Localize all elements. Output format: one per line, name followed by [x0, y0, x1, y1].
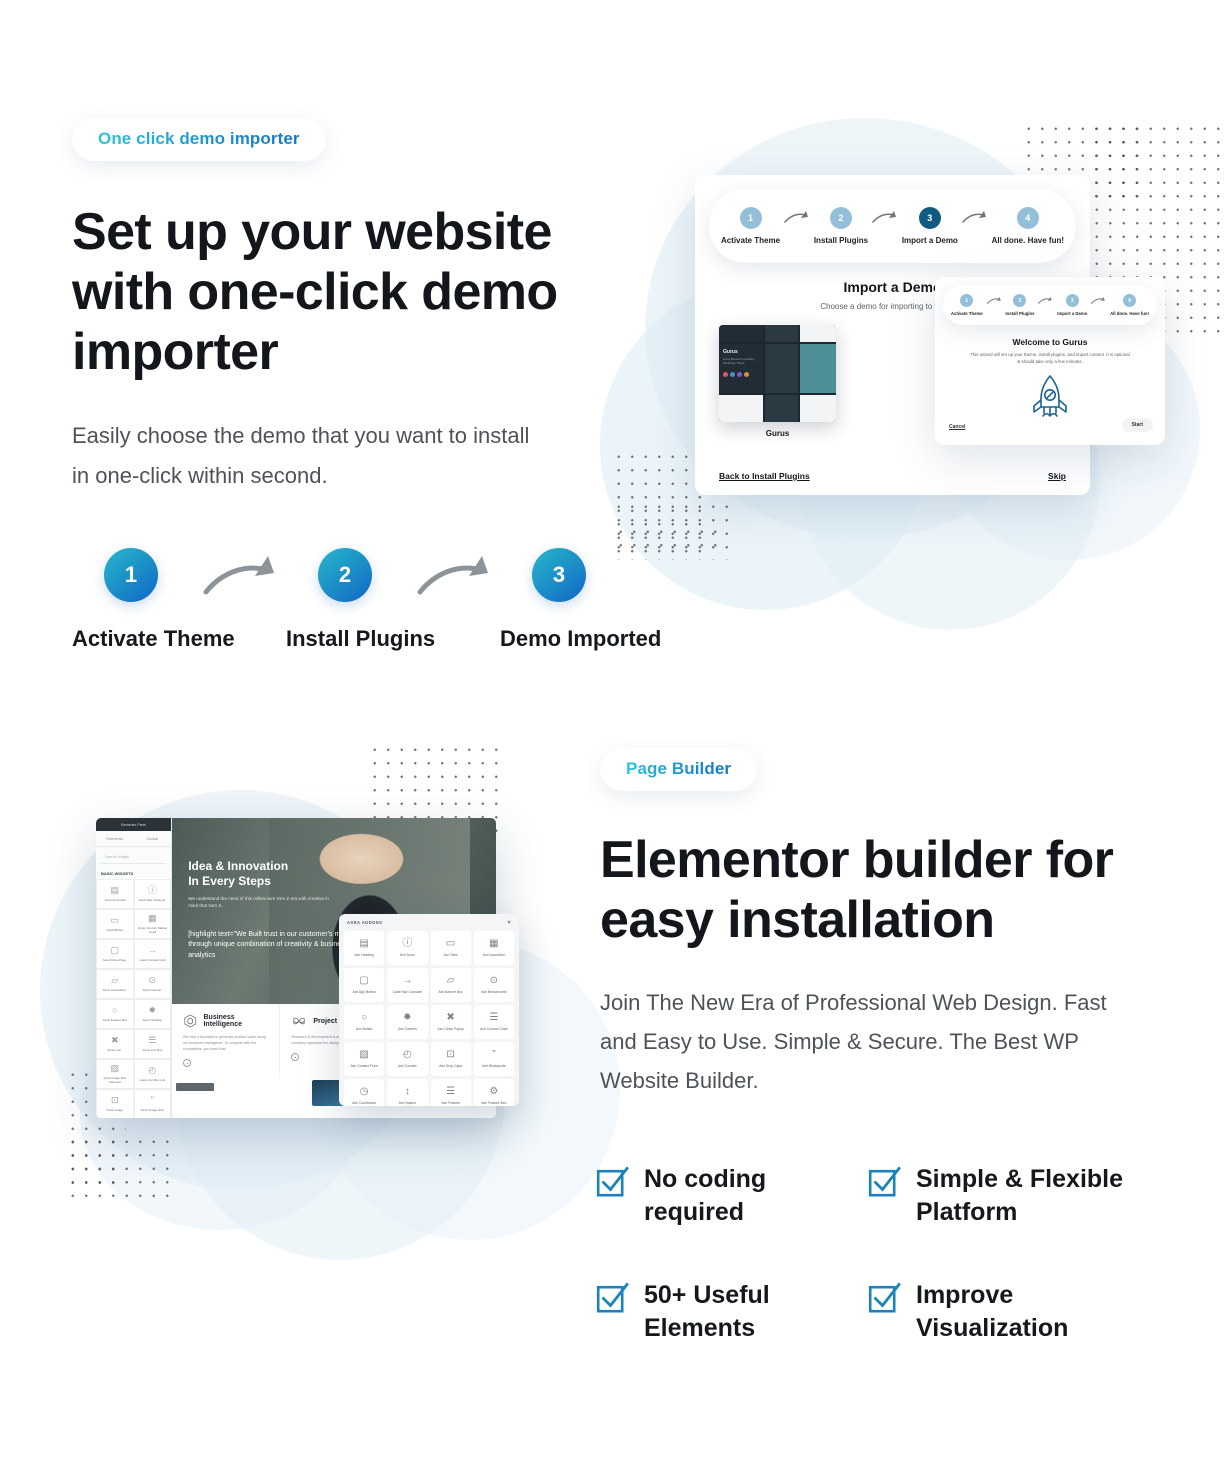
welcome-step-2-dot: 2 — [1013, 294, 1026, 307]
step-3-circle: 3 — [532, 548, 586, 602]
widget-glyph-icon: ⊙ — [148, 976, 156, 985]
widget-glyph-icon: ▢ — [110, 946, 119, 955]
step-2: 2 Install Plugins — [286, 548, 414, 602]
addons-panel-header: ASRA ADDONS ▾ — [339, 914, 519, 931]
addon-name: Asri Blockquote — [482, 1064, 506, 1068]
widget-cell[interactable]: ▧Asrar Image Box Carousel — [96, 1059, 134, 1089]
welcome-step-1-label: Activate Theme — [951, 311, 983, 316]
feature-item-no-coding: No coding required — [596, 1163, 868, 1229]
demo-tile-brand: Gurus Gurus Business Consulting WordPres… — [719, 344, 763, 394]
addon-glyph-icon: ✖ — [446, 1013, 454, 1023]
welcome-step-2-label: Install Plugins — [1005, 311, 1034, 316]
wizard-arrow-icon-1 — [784, 211, 810, 225]
info-card-1-body: We help a business to generate product v… — [183, 1034, 268, 1052]
wizard-step-1[interactable]: 1 Activate Theme — [721, 207, 780, 245]
addon-cell[interactable]: ↕Asri Spacer — [387, 1079, 427, 1106]
demo-name-label: Gurus — [719, 429, 836, 438]
wizard-step-bar: 1 Activate Theme 2 Install Plugins 3 Imp… — [709, 189, 1076, 263]
wizard-step-4-label: All done. Have fun! — [992, 236, 1064, 245]
step-2-circle: 2 — [318, 548, 372, 602]
feature-item-flexible-label: Simple & Flexible Platform — [916, 1163, 1140, 1229]
demo-tagline: Gurus Business Consulting WordPress Them… — [723, 358, 759, 366]
addon-cell[interactable]: ◴Asri Counter — [387, 1042, 427, 1076]
widget-name: Asrar Countdown — [103, 988, 126, 992]
hexagon-icon — [183, 1013, 197, 1029]
checkbox-checked-icon — [868, 1165, 902, 1199]
widget-glyph-icon: ✹ — [148, 1006, 156, 1015]
marketing-page: One click demo importer Set up your webs… — [0, 0, 1232, 1461]
widget-name: Asrar Image Grid — [141, 1108, 164, 1112]
addon-cell[interactable]: ⊙Asri Breadcrumb — [474, 968, 514, 1002]
dot-grid-step3 — [614, 525, 724, 553]
welcome-step-4-dot: 4 — [1123, 294, 1136, 307]
wizard-step-2-label: Install Plugins — [814, 236, 868, 245]
widget-glyph-icon: ✖ — [111, 1036, 119, 1045]
widget-cell[interactable]: ▱Asrar Countdown — [96, 969, 134, 999]
hero-title-line1: Idea & Innovation — [188, 859, 338, 874]
widget-glyph-icon: → — [148, 946, 157, 955]
demo-tile — [800, 395, 836, 422]
step-1-circle: 1 — [104, 548, 158, 602]
widget-cell[interactable]: ☰Asrar Icon Box — [134, 1029, 172, 1059]
step-3: 3 Demo Imported — [500, 548, 628, 602]
addon-name: Asri Accordion — [483, 953, 505, 957]
widget-glyph-icon: ☰ — [148, 1036, 156, 1045]
demo-tile — [765, 344, 798, 394]
skip-link[interactable]: Skip — [1048, 471, 1066, 481]
widget-cell[interactable]: ⓘAsrar Nav Carousel — [134, 879, 172, 909]
widget-cell[interactable]: ✹Asrar Heading — [134, 999, 172, 1029]
hero-paragraph: We understand the need of this millenniu… — [188, 895, 338, 910]
widget-name: Asrar Country Station Feed — [135, 926, 169, 934]
feature-item-visualization: Improve Visualization — [868, 1279, 1140, 1345]
steps-row: 1 Activate Theme 2 Install Plugins 3 Dem… — [72, 548, 628, 606]
checkbox-checked-icon — [868, 1281, 902, 1315]
widget-cell[interactable]: ⊡Asrar Image — [96, 1089, 134, 1118]
addon-glyph-icon: ⓘ — [402, 939, 412, 949]
chevron-down-icon[interactable]: ▾ — [508, 919, 511, 926]
addon-name: Asri App Button — [352, 990, 375, 994]
addon-glyph-icon: ⊙ — [490, 976, 498, 986]
widget-glyph-icon: ▧ — [110, 1064, 119, 1073]
addon-cell[interactable]: ▱Asri Banner Box — [431, 968, 471, 1002]
badge-page-builder-label: Page Builder — [626, 759, 731, 778]
builder-panel-tabs: Elements Global — [96, 831, 171, 847]
feature-list: No coding required Simple & Flexible Pla… — [596, 1163, 1140, 1345]
widget-cell[interactable]: ▢Asrar Close Page — [96, 939, 134, 969]
addon-glyph-icon: ○ — [361, 1013, 367, 1023]
addons-panel-title: ASRA ADDONS — [347, 920, 382, 925]
welcome-arrow-icon-1 — [987, 297, 1002, 305]
wizard-arrow-icon-2 — [872, 211, 898, 225]
welcome-step-3[interactable]: 3 Import a Demo — [1057, 294, 1087, 316]
addon-name: Asri Counter — [398, 1064, 417, 1068]
hero-title-line2: In Every Steps — [188, 874, 338, 889]
widget-cell[interactable]: ”Asrar Image Grid — [134, 1089, 172, 1118]
demo-tile — [719, 395, 763, 422]
demo-tile — [719, 325, 763, 342]
demo-tile — [800, 325, 836, 342]
section2-title: Elementor builder for easy installation — [600, 831, 1160, 951]
builder-panel-title: Elementor Panel — [121, 823, 146, 827]
widget-cell[interactable]: ▭Asrar Button — [96, 909, 134, 939]
widget-cell[interactable]: ✖Asrar Icon — [96, 1029, 134, 1059]
widget-name: Asrar Image Box Carousel — [98, 1076, 132, 1084]
addon-name: Asri Feature Box — [481, 1101, 506, 1105]
arrow-icon-1 — [200, 552, 286, 606]
welcome-step-bar: 1 Activate Theme 2 Install Plugins 3 Imp… — [943, 285, 1157, 325]
demo-tile — [800, 344, 836, 394]
feature-item-flexible: Simple & Flexible Platform — [868, 1163, 1140, 1229]
rocket-icon — [1029, 373, 1071, 421]
wizard-step-1-label: Activate Theme — [721, 236, 780, 245]
addon-glyph-icon: → — [402, 976, 412, 986]
welcome-step-3-label: Import a Demo — [1057, 311, 1087, 316]
step-1: 1 Activate Theme — [72, 548, 200, 602]
hero-text-block: Idea & Innovation In Every Steps We unde… — [188, 859, 338, 910]
feature-item-elements-label: 50+ Useful Elements — [644, 1279, 868, 1345]
widget-glyph-icon: ▱ — [111, 976, 118, 985]
widget-name: Asrar Nav Carousel — [139, 898, 165, 902]
addon-glyph-icon: ▭ — [446, 939, 455, 949]
addon-cell[interactable]: ”Asri Blockquote — [474, 1042, 514, 1076]
demo-swatches — [723, 372, 759, 377]
addon-name: Asri Close Popup — [438, 1027, 464, 1031]
widget-cell[interactable]: ⊙Asrar Counter — [134, 969, 172, 999]
info-card-1-title: Business Intelligence — [203, 1014, 268, 1028]
addon-glyph-icon: ⚙ — [489, 1087, 498, 1097]
tab-global[interactable]: Global — [134, 831, 172, 846]
widget-section-title: BASIC WIDGETS — [96, 868, 171, 879]
widget-name: Asrar Feature Box — [102, 1018, 127, 1022]
addon-cell[interactable]: ✖Asri Close Popup — [431, 1005, 471, 1039]
addon-name: Asri Countdown — [352, 1101, 376, 1105]
wizard-step-3-label: Import a Demo — [902, 236, 958, 245]
wizard-step-1-dot: 1 — [740, 207, 762, 229]
addon-glyph-icon: ▱ — [447, 976, 455, 986]
addon-name: Asri Banner Box — [438, 990, 463, 994]
wizard-step-2[interactable]: 2 Install Plugins — [814, 207, 868, 245]
badge-label: One click demo importer — [98, 129, 300, 148]
welcome-step-1[interactable]: 1 Activate Theme — [951, 294, 983, 316]
arrow-icon-2 — [414, 552, 500, 606]
addon-glyph-icon: ▦ — [489, 939, 498, 949]
wizard-step-2-dot: 2 — [830, 207, 852, 229]
flower-icon — [291, 1013, 307, 1029]
addon-cell[interactable]: ⚙Asri Feature Box — [474, 1079, 514, 1106]
addon-name: Asri Column Chart — [480, 1027, 508, 1031]
widget-name: Asrar Button — [106, 928, 123, 932]
addon-name: Asri Drop Caps — [439, 1064, 462, 1068]
addon-glyph-icon: ” — [492, 1050, 495, 1060]
step-3-label: Demo Imported — [500, 626, 661, 652]
tab-elements[interactable]: Elements — [96, 831, 134, 846]
addons-grid: ▤Asri HeadingⓘAsri Icons▭Asri Tabs▦Asri … — [339, 931, 519, 1106]
welcome-body: This wizard will set up your theme, inst… — [969, 351, 1131, 366]
info-card-1-head: Business Intelligence — [183, 1013, 268, 1029]
addon-name: Asri Heading — [354, 953, 373, 957]
widget-name: Asrar Counter — [143, 988, 162, 992]
addon-name: Asri Breadcrumb — [481, 990, 506, 994]
info-card-2-readmore[interactable] — [291, 1053, 299, 1061]
widget-glyph-icon: ” — [151, 1096, 154, 1105]
addons-panel: ASRA ADDONS ▾ ▤Asri HeadingⓘAsri Icons▭A… — [339, 914, 519, 1106]
widget-glyph-icon: ▤ — [110, 886, 119, 895]
widget-cell[interactable]: ○Asrar Feature Box — [96, 999, 134, 1029]
badge-page-builder: Page Builder — [600, 748, 757, 791]
builder-bottom-tag — [176, 1083, 214, 1091]
addon-glyph-icon: ◷ — [360, 1087, 369, 1097]
widget-name: Asrar Heading — [143, 1018, 162, 1022]
feature-item-visualization-label: Improve Visualization — [916, 1279, 1140, 1345]
checkbox-checked-icon — [596, 1165, 630, 1199]
demo-tile — [765, 325, 798, 342]
info-card-1: Business Intelligence We help a business… — [172, 1004, 280, 1078]
addon-cell[interactable]: ✹Asri Careers — [387, 1005, 427, 1039]
widget-cell[interactable]: ▦Asrar Country Station Feed — [134, 909, 172, 939]
wizard-step-4-dot: 4 — [1017, 207, 1039, 229]
section2-description: Join The New Era of Professional Web Des… — [600, 983, 1140, 1100]
addon-glyph-icon: ☰ — [446, 1087, 455, 1097]
widget-name: Asrar Contact Card — [139, 958, 165, 962]
widget-cell[interactable]: ◴Asrar Icon Box List — [134, 1059, 172, 1089]
widget-glyph-icon: ⓘ — [148, 886, 157, 895]
addon-glyph-icon: ▧ — [359, 1050, 368, 1060]
welcome-cancel-button[interactable]: Cancel — [949, 424, 965, 430]
wizard-arrow-icon-3 — [962, 211, 988, 225]
widget-name: Asrar Image — [106, 1108, 123, 1112]
page-title: Set up your website with one-click demo … — [72, 203, 652, 382]
addon-glyph-icon: ↕ — [405, 1087, 410, 1097]
addon-name: Asri Careers — [398, 1027, 417, 1031]
addon-glyph-icon: ⊡ — [446, 1050, 454, 1060]
widget-cell[interactable]: →Asrar Contact Card — [134, 939, 172, 969]
feature-item-no-coding-label: No coding required — [644, 1163, 868, 1229]
wizard-step-3[interactable]: 3 Import a Demo — [902, 207, 958, 245]
addon-name: Asri Contact Form — [350, 1064, 377, 1068]
feature-item-elements: 50+ Useful Elements — [596, 1279, 868, 1345]
addon-glyph-icon: ▤ — [359, 939, 368, 949]
widget-name: Asrar Accordion — [104, 898, 125, 902]
dot-grid-mid-left-2 — [612, 500, 734, 560]
elementor-builder-mockup: Elementor Panel Elements Global Search W… — [96, 818, 546, 1158]
widget-glyph-icon: ⊡ — [111, 1096, 119, 1105]
addon-name: Asri Icons — [400, 953, 415, 957]
wizard-step-3-dot: 3 — [919, 207, 941, 229]
addon-cell[interactable]: ☰Asri Feature — [431, 1079, 471, 1106]
step-2-label: Install Plugins — [286, 626, 435, 652]
demo-tile — [765, 395, 798, 422]
widget-glyph-icon: ◴ — [148, 1066, 156, 1075]
addon-cell[interactable]: ◷Asri Countdown — [344, 1079, 384, 1106]
addon-glyph-icon: ▢ — [359, 976, 368, 986]
welcome-step-4[interactable]: 4 All done. Have fun! — [1110, 294, 1149, 316]
welcome-step-3-dot: 3 — [1066, 294, 1079, 307]
welcome-title: Welcome to Gurus — [935, 337, 1165, 347]
builder-panel-titlebar: Elementor Panel — [96, 818, 171, 831]
welcome-arrow-icon-2 — [1038, 297, 1053, 305]
widget-name: Asrar Icon Box List — [140, 1078, 165, 1082]
welcome-arrow-icon-3 — [1091, 297, 1106, 305]
widget-glyph-icon: ○ — [112, 1006, 117, 1015]
addon-cell[interactable]: ▤Asri Heading — [344, 931, 384, 965]
widget-cell[interactable]: ▤Asrar Accordion — [96, 879, 134, 909]
widget-grid: ▤Asrar AccordionⓘAsrar Nav Carousel▭Asra… — [96, 879, 171, 1118]
checkbox-checked-icon — [596, 1281, 630, 1315]
page-description: Easily choose the demo that you want to … — [72, 416, 542, 494]
welcome-step-2[interactable]: 2 Install Plugins — [1005, 294, 1034, 316]
welcome-step-4-label: All done. Have fun! — [1110, 311, 1149, 316]
addon-name: Asri Feature — [441, 1101, 459, 1105]
addon-glyph-icon: ☰ — [489, 1013, 498, 1023]
addon-cell[interactable]: ▭Asri Tabs — [431, 931, 471, 965]
addon-name: Asri Spacer — [399, 1101, 417, 1105]
addon-glyph-icon: ◴ — [403, 1050, 412, 1060]
welcome-start-button[interactable]: Start — [1122, 418, 1153, 432]
welcome-wizard-window: 1 Activate Theme 2 Install Plugins 3 Imp… — [935, 277, 1165, 445]
back-to-install-plugins-link[interactable]: Back to Install Plugins — [719, 471, 810, 481]
hero-paragraph-2: [highlight text="We Built trust in our c… — [188, 930, 358, 962]
info-card-1-readmore[interactable] — [183, 1059, 191, 1067]
addon-cell[interactable]: ○Asri Button — [344, 1005, 384, 1039]
welcome-step-1-dot: 1 — [960, 294, 973, 307]
addon-cell[interactable]: ⓘAsri Icons — [387, 931, 427, 965]
widget-name: Asrar Close Page — [103, 958, 127, 962]
wizard-step-4[interactable]: 4 All done. Have fun! — [992, 207, 1064, 245]
widget-glyph-icon: ▦ — [148, 914, 157, 923]
addon-cell[interactable]: ☰Asri Column Chart — [474, 1005, 514, 1039]
addon-name: Case Nav Carousel — [393, 990, 422, 994]
demo-thumbnail[interactable]: Gurus Gurus Business Consulting WordPres… — [719, 325, 836, 422]
addon-cell[interactable]: ▢Asri App Button — [344, 968, 384, 1002]
widget-name: Asrar Icon Box — [142, 1048, 162, 1052]
builder-widget-panel: Elementor Panel Elements Global Search W… — [96, 818, 172, 1118]
addon-cell[interactable]: ▧Asri Contact Form — [344, 1042, 384, 1076]
widget-search-input[interactable]: Search Widget — [101, 851, 166, 864]
step-1-label: Activate Theme — [72, 626, 235, 652]
addon-cell[interactable]: ▦Asri Accordion — [474, 931, 514, 965]
demo-brand: Gurus — [723, 349, 759, 355]
addon-glyph-icon: ✹ — [403, 1013, 411, 1023]
addon-cell[interactable]: ⊡Asri Drop Caps — [431, 1042, 471, 1076]
badge-one-click-importer: One click demo importer — [72, 118, 326, 161]
addon-name: Asri Button — [356, 1027, 373, 1031]
widget-glyph-icon: ▭ — [110, 916, 119, 925]
widget-name: Asrar Icon — [108, 1048, 122, 1052]
addon-cell[interactable]: →Case Nav Carousel — [387, 968, 427, 1002]
addon-name: Asri Tabs — [444, 953, 458, 957]
